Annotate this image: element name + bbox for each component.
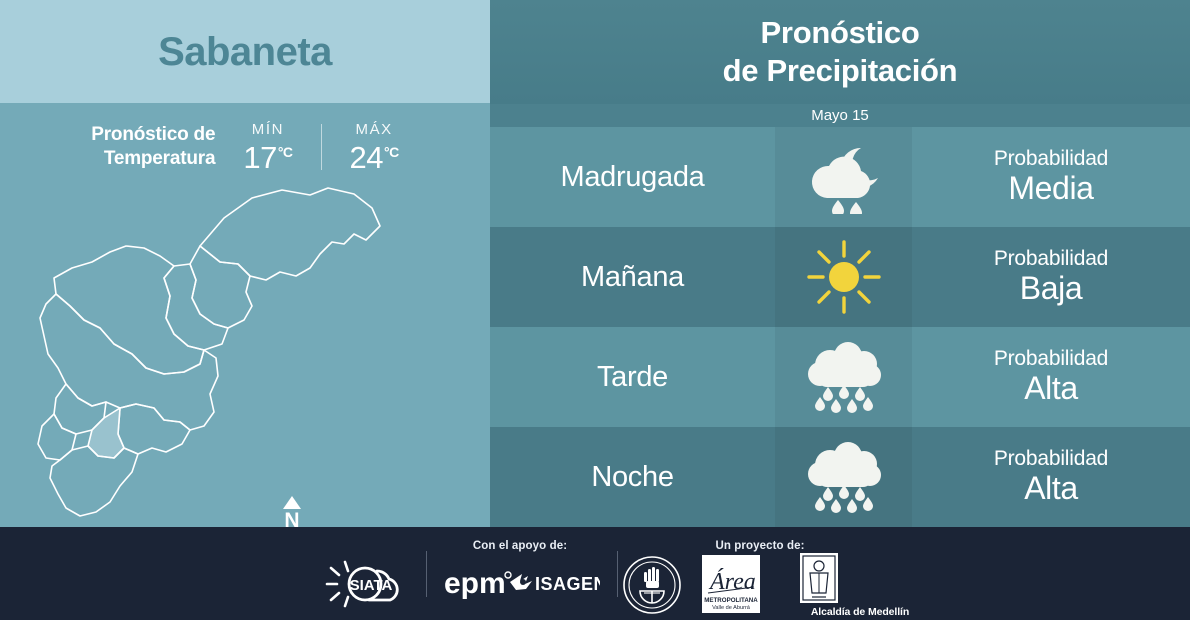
map-svg (14, 168, 434, 527)
forecast-period: Madrugada (490, 161, 775, 194)
sun-icon (775, 238, 912, 316)
cloud-heavy-rain-icon (775, 337, 912, 417)
map-region-envigado (118, 404, 190, 454)
min-temperature-unit: °C (278, 145, 293, 159)
medellin-seal-logo[interactable] (622, 555, 682, 615)
map-region-girardota (190, 246, 252, 328)
municipality-map: N (0, 168, 490, 527)
forecast-row: Tarde (490, 327, 1190, 427)
epm-logo-text: epm (444, 567, 506, 600)
max-temperature-unit: °C (384, 145, 399, 159)
alcaldia-label: Alcaldía de Medellín (770, 605, 950, 619)
forecast-row: Mañana (490, 227, 1190, 327)
map-region-copacabana (164, 264, 228, 350)
footer-divider (617, 551, 618, 597)
forecast-period: Tarde (490, 361, 775, 394)
map-region-medellin (40, 294, 218, 430)
forecast-period: Mañana (490, 261, 775, 294)
probability-label: Probabilidad (912, 248, 1190, 270)
temperature-title: Pronóstico de Temperatura (91, 123, 215, 171)
footer-divider (426, 551, 427, 597)
alcaldia-crest-logo[interactable] (800, 553, 838, 603)
forecast-probability: Probabilidad Media (912, 148, 1190, 206)
area-logo-script: Área (708, 569, 756, 595)
map-region-caldas (50, 446, 138, 516)
isagen-logo[interactable]: ISAGEN (508, 565, 600, 599)
isagen-logo-text: ISAGEN (535, 574, 600, 594)
min-temperature-label: MÍN (243, 122, 292, 137)
probability-label: Probabilidad (912, 148, 1190, 170)
map-region-barbosa (200, 188, 380, 280)
support-caption: Con el apoyo de: (420, 540, 620, 552)
probability-value: Media (912, 172, 1190, 206)
precipitation-panel: Pronóstico de Precipitación Mayo 15 Madr… (490, 0, 1190, 527)
project-caption: Un proyecto de: (660, 540, 860, 552)
forecast-probability: Probabilidad Alta (912, 448, 1190, 506)
map-region-la-estrella (38, 414, 76, 460)
forecast-probability: Probabilidad Alta (912, 348, 1190, 406)
temperature-title-line1: Pronóstico de (91, 123, 215, 147)
forecast-row: Madrugada Probabilidad Media (490, 127, 1190, 227)
temperature-divider (321, 124, 322, 170)
probability-label: Probabilidad (912, 448, 1190, 470)
forecast-date: Mayo 15 (811, 107, 869, 124)
cloud-heavy-rain-icon (775, 437, 912, 517)
forecast-period: Noche (490, 461, 775, 494)
compass-arrow-icon (283, 496, 301, 509)
precipitation-title-line2: de Precipitación (723, 52, 958, 90)
forecast-table: Madrugada Probabilidad Media Ma (490, 127, 1190, 527)
probability-value: Alta (912, 372, 1190, 406)
siata-logo[interactable]: SIATA (325, 559, 425, 609)
probability-value: Baja (912, 272, 1190, 306)
area-logo-line1: METROPOLITANA (704, 597, 758, 604)
area-metropolitana-logo[interactable]: Área METROPOLITANA Valle de Aburrá (702, 555, 760, 613)
temperature-panel: Sabaneta Pronóstico de Temperatura MÍN 1… (0, 0, 490, 527)
forecast-row: Noche (490, 427, 1190, 527)
footer: Con el apoyo de: Un proyecto de: SIATA (0, 527, 1190, 620)
moon-cloud-rain-icon (775, 140, 912, 214)
max-temperature-label: MÁX (350, 122, 399, 137)
max-temperature: MÁX 24 °C (350, 122, 399, 173)
forecast-date-band: Mayo 15 (490, 104, 1190, 127)
precipitation-title-line1: Pronóstico (761, 14, 920, 52)
city-header: Sabaneta (0, 0, 490, 103)
min-temperature: MÍN 17 °C (243, 122, 292, 173)
probability-value: Alta (912, 472, 1190, 506)
forecast-probability: Probabilidad Baja (912, 248, 1190, 306)
weather-forecast-infographic: Sabaneta Pronóstico de Temperatura MÍN 1… (0, 0, 1190, 620)
area-logo-line2: Valle de Aburrá (712, 605, 751, 611)
precipitation-header: Pronóstico de Precipitación (490, 0, 1190, 104)
probability-label: Probabilidad (912, 348, 1190, 370)
epm-logo[interactable]: epm (442, 563, 518, 603)
city-name: Sabaneta (158, 32, 332, 72)
